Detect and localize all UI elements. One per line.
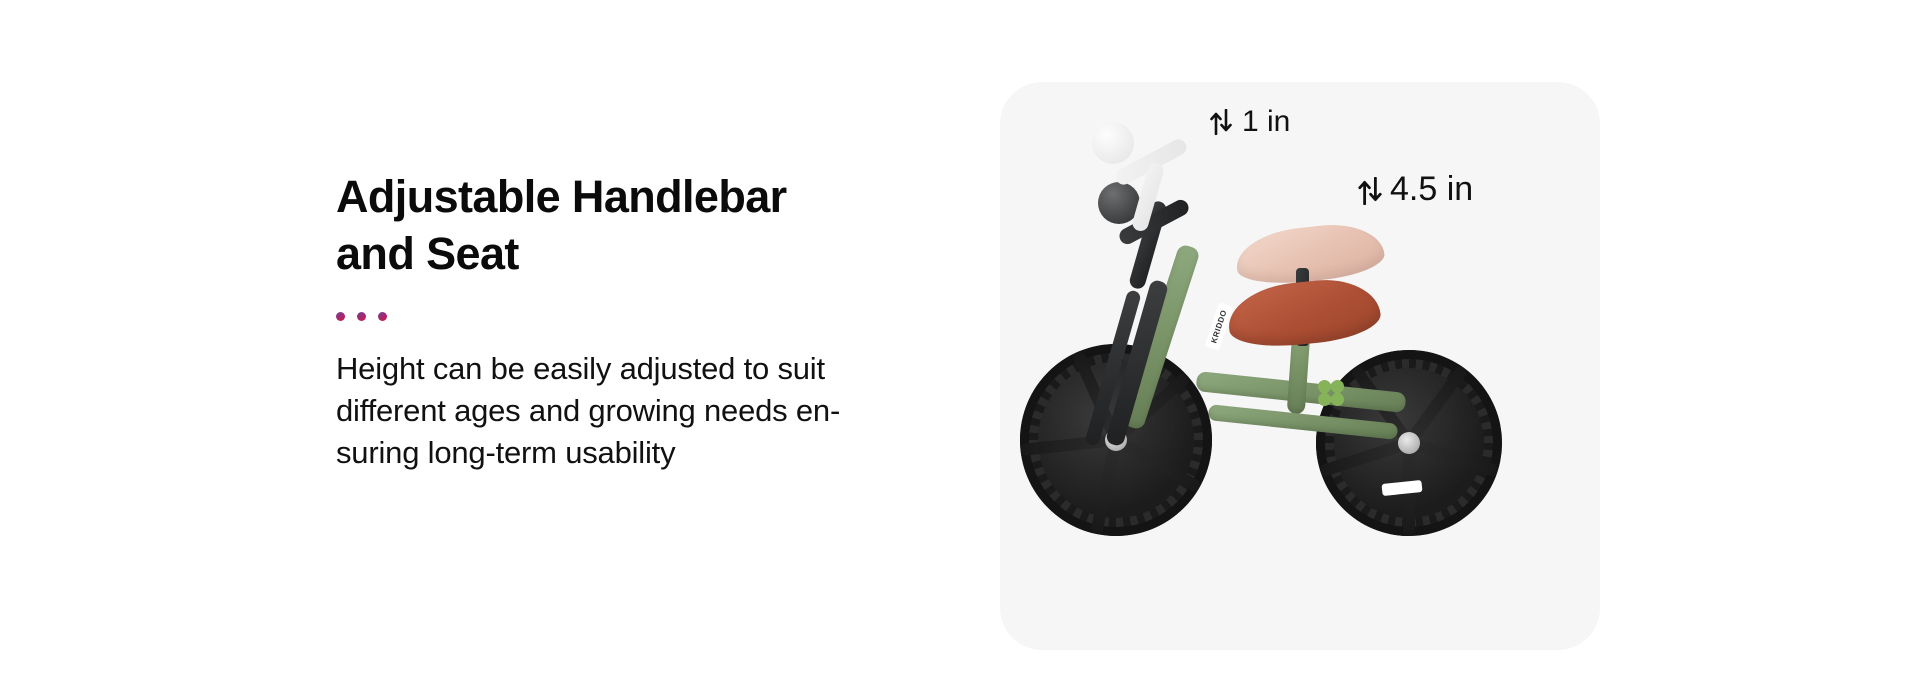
seat [1225, 274, 1383, 352]
feature-section: Adjustable Handlebarand Seat Height can … [0, 0, 1920, 675]
divider-dot-2 [357, 312, 366, 321]
product-image-card: KRIDDO 1 in 4.5 in [1000, 82, 1600, 650]
callout-handlebar-value: 1 in [1242, 105, 1290, 139]
callout-seat-adjustment: 4.5 in [1358, 170, 1473, 209]
divider-dot-1 [336, 312, 345, 321]
callout-seat-value: 4.5 in [1390, 170, 1473, 209]
feature-description: Height can be easily adjusted to suit di… [336, 348, 936, 474]
description-line-2: different ages and growing needs en- [336, 390, 936, 432]
raised-seat-ghost [1234, 219, 1387, 288]
dots-divider [336, 310, 936, 322]
clover-decal-icon [1318, 380, 1344, 406]
front-wheel [1316, 350, 1502, 536]
divider-dot-3 [378, 312, 387, 321]
up-down-arrows-icon [1210, 109, 1232, 135]
title-line-1: Adjustable Handlebar [336, 171, 787, 222]
feature-text-column: Adjustable Handlebarand Seat Height can … [336, 168, 936, 474]
description-line-1: Height can be easily adjusted to suit [336, 348, 936, 390]
title-line-2: and Seat [336, 228, 519, 279]
balance-bike-illustration: KRIDDO [1000, 82, 1600, 650]
callout-handlebar-adjustment: 1 in [1210, 105, 1290, 139]
raised-handlebar-ghost-grip [1092, 122, 1134, 164]
page-title: Adjustable Handlebarand Seat [336, 168, 856, 282]
description-line-3: suring long-term usability [336, 432, 936, 474]
front-wheel-hub [1398, 432, 1420, 454]
up-down-arrows-icon [1358, 177, 1380, 203]
